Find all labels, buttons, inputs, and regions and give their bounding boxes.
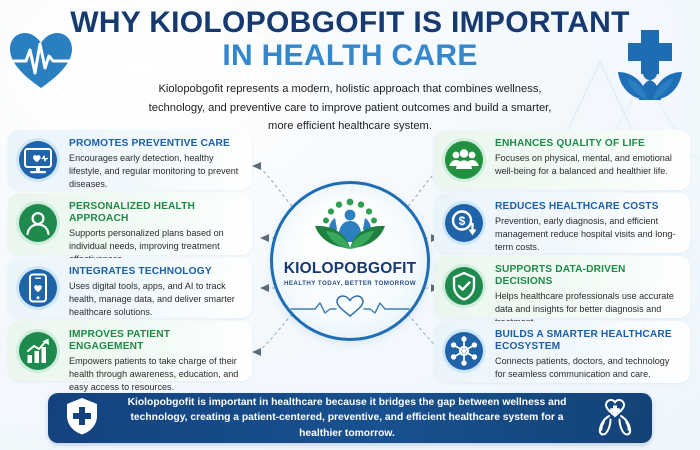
card-title: REDUCES HEALTHCARE COSTS (495, 201, 681, 213)
card-description: Focuses on physical, mental, and emotion… (495, 152, 681, 178)
network-nodes-icon (441, 328, 487, 374)
smartphone-heart-icon (15, 265, 61, 311)
card-title: PROMOTES PREVENTIVE CARE (69, 138, 243, 150)
group-people-icon (441, 137, 487, 183)
card-title: BUILDS A SMARTER HEALTHCARE ECOSYSTEM (495, 329, 681, 353)
banner-message: Kiolopobgofit is important in healthcare… (102, 395, 592, 442)
card-supports-data-driven-decisions[interactable]: SUPPORTS DATA-DRIVEN DECISIONS Helps hea… (434, 256, 690, 318)
bar-chart-growth-icon (15, 328, 61, 374)
hands-holding-heart-cross-icon (592, 395, 638, 442)
people-leaves-wellness-icon (307, 198, 393, 259)
brand-tagline: HEALTHY TODAY, BETTER TOMORROW (284, 280, 416, 287)
card-description: Empowers patients to take charge of thei… (69, 355, 243, 394)
person-user-icon (15, 200, 61, 246)
brand-name: KIOLOPOBGOFIT (284, 260, 417, 278)
svg-text:$: $ (459, 214, 466, 228)
medical-cross-person-leaves-icon (608, 26, 692, 111)
card-title: PERSONALIZED HEALTH APPROACH (69, 201, 243, 225)
heartbeat-line-icon (289, 294, 411, 323)
card-promotes-preventive-care[interactable]: PROMOTES PREVENTIVE CARE Encourages earl… (8, 130, 252, 190)
card-description: Encourages early detection, healthy life… (69, 152, 243, 191)
shield-check-icon (441, 263, 487, 309)
card-enhances-quality-of-life[interactable]: ENHANCES QUALITY OF LIFE Focuses on phys… (434, 130, 690, 190)
page-subtitle: Kiolopobgofit represents a modern, holis… (135, 80, 565, 135)
card-improves-patient-engagement[interactable]: IMPROVES PATIENT ENGAGEMENT Empowers pat… (8, 321, 252, 381)
heart-pulse-icon (8, 30, 74, 97)
card-description: Uses digital tools, apps, and AI to trac… (69, 280, 243, 319)
center-brand-logo[interactable]: KIOLOPOBGOFIT HEALTHY TODAY, BETTER TOMO… (270, 181, 430, 341)
bottom-banner: Kiolopobgofit is important in healthcare… (48, 393, 652, 443)
dollar-coin-down-arrow-icon: $ (441, 200, 487, 246)
card-builds-smarter-healthcare-ecosystem[interactable]: BUILDS A SMARTER HEALTHCARE ECOSYSTEM Co… (434, 321, 690, 383)
card-description: Connects patients, doctors, and technolo… (495, 355, 681, 381)
card-title: SUPPORTS DATA-DRIVEN DECISIONS (495, 264, 681, 288)
shield-medical-cross-icon (62, 395, 102, 442)
card-personalized-health-approach[interactable]: PERSONALIZED HEALTH APPROACH Supports pe… (8, 193, 252, 255)
page-title-line2: IN HEALTH CARE (0, 39, 700, 74)
header: WHY KIOLOPOBGOFIT IS IMPORTANT IN HEALTH… (0, 0, 700, 136)
card-description: Prevention, early diagnosis, and efficie… (495, 215, 681, 254)
monitor-heart-pulse-icon (15, 137, 61, 183)
card-title: INTEGRATES TECHNOLOGY (69, 266, 243, 278)
card-title: ENHANCES QUALITY OF LIFE (495, 138, 681, 150)
page-title-line1: WHY KIOLOPOBGOFIT IS IMPORTANT (0, 0, 700, 39)
card-reduces-healthcare-costs[interactable]: $ REDUCES HEALTHCARE COSTS Prevention, e… (434, 193, 690, 253)
card-title: IMPROVES PATIENT ENGAGEMENT (69, 329, 243, 353)
card-integrates-technology[interactable]: INTEGRATES TECHNOLOGY Uses digital tools… (8, 258, 252, 318)
infographic-root: WHY KIOLOPOBGOFIT IS IMPORTANT IN HEALTH… (0, 0, 700, 450)
